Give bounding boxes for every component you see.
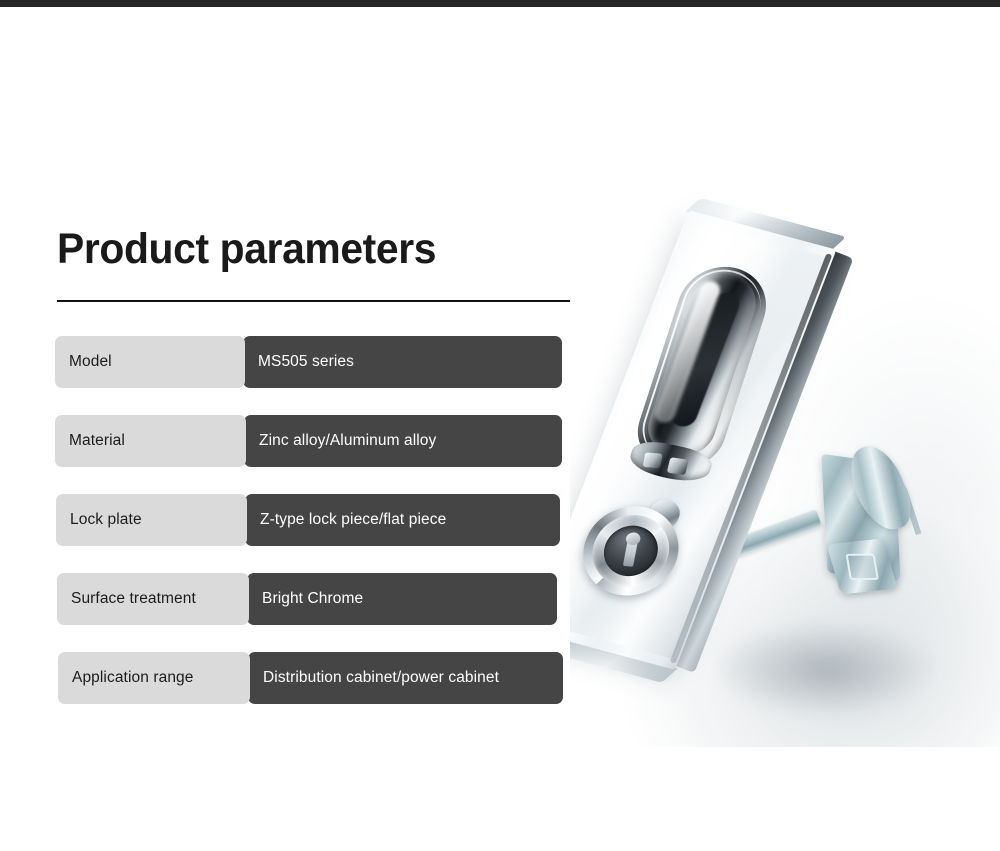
spec-label-cell: Lock plate <box>56 494 247 546</box>
product-image <box>570 177 1000 747</box>
handle-base-notch-left <box>643 452 663 468</box>
spec-value-text: Zinc alloy/Aluminum alloy <box>259 432 436 450</box>
spec-label-text: Model <box>69 353 112 371</box>
spec-label-text: Surface treatment <box>71 590 196 608</box>
handle-base-notch-right <box>667 457 689 475</box>
table-row: MS505 series Model <box>0 336 620 388</box>
spec-label-text: Application range <box>72 669 193 687</box>
spec-value-text: Z-type lock piece/flat piece <box>260 511 446 529</box>
table-row: Distribution cabinet/power cabinet Appli… <box>0 652 620 704</box>
spec-table: MS505 series Model Zinc alloy/Aluminum a… <box>0 336 620 731</box>
spec-label-text: Lock plate <box>70 511 142 529</box>
spec-value-cell: MS505 series <box>243 336 562 388</box>
spec-value-text: MS505 series <box>258 353 354 371</box>
spec-label-cell: Application range <box>58 652 250 704</box>
top-accent-bar <box>0 0 1000 7</box>
page-canvas: Product parameters MS505 series Model Zi… <box>0 7 1000 851</box>
table-row: Zinc alloy/Aluminum alloy Material <box>0 415 620 467</box>
spec-value-cell: Distribution cabinet/power cabinet <box>248 652 563 704</box>
spec-label-cell: Model <box>55 336 245 388</box>
spec-value-text: Bright Chrome <box>262 590 363 608</box>
mounting-hardware <box>798 421 948 633</box>
lock-assembly <box>570 177 1000 747</box>
spec-value-cell: Bright Chrome <box>247 573 557 625</box>
spec-label-text: Material <box>69 432 125 450</box>
table-row: Z-type lock piece/flat piece Lock plate <box>0 494 620 546</box>
spec-value-cell: Zinc alloy/Aluminum alloy <box>244 415 562 467</box>
table-row: Bright Chrome Surface treatment <box>0 573 620 625</box>
spec-value-text: Distribution cabinet/power cabinet <box>263 669 499 687</box>
divider-line <box>57 300 654 302</box>
spec-value-cell: Z-type lock piece/flat piece <box>245 494 560 546</box>
page-title: Product parameters <box>57 225 436 274</box>
spec-label-cell: Surface treatment <box>57 573 249 625</box>
chrome-faceplate <box>570 210 836 670</box>
spec-label-cell: Material <box>55 415 246 467</box>
